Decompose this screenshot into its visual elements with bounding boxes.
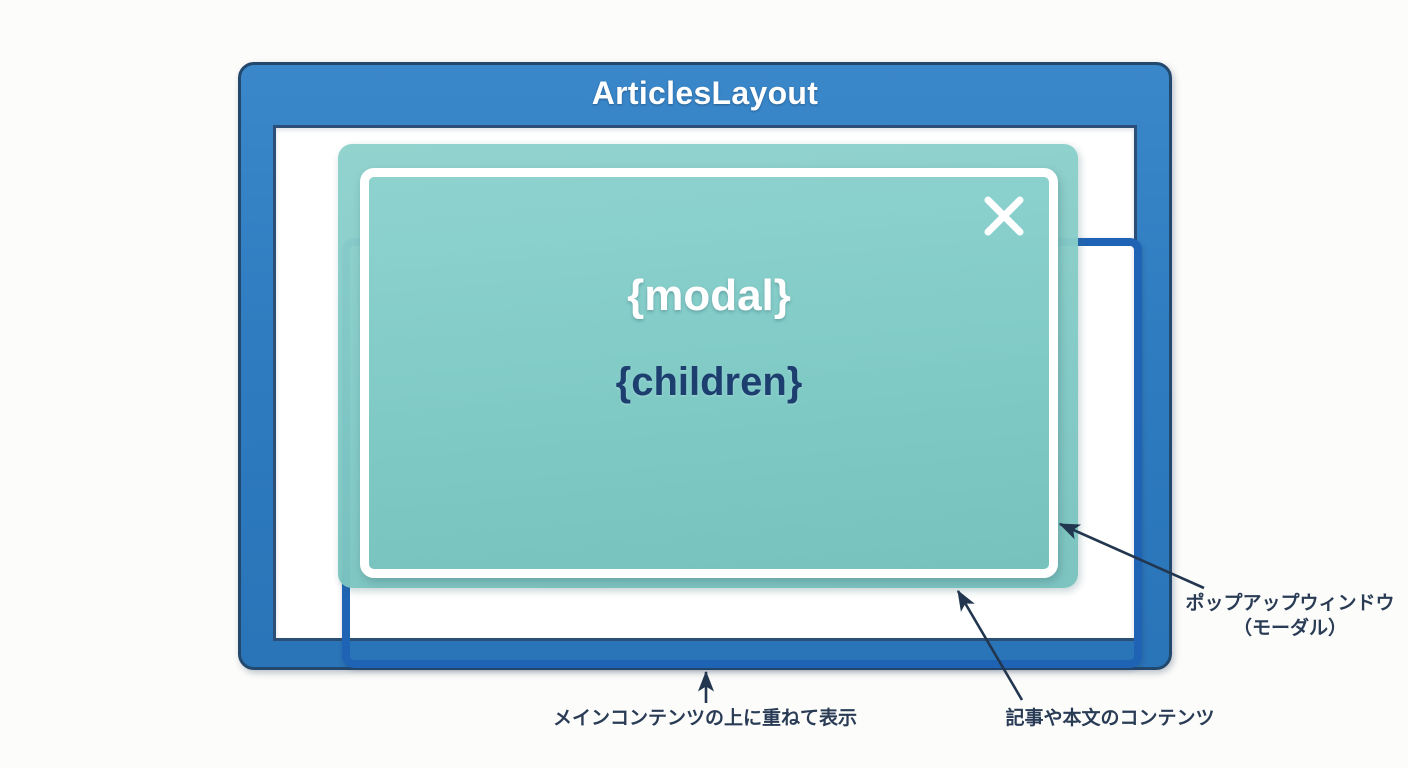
annotation-article-content: 記事や本文のコンテンツ xyxy=(960,707,1260,732)
modal-label-group: {modal} {children} xyxy=(369,273,1049,403)
children-placeholder-label: {children} xyxy=(369,361,1049,403)
annotation-popup-window: ポップアップウィンドウ （モーダル） xyxy=(1172,592,1408,641)
close-x-icon[interactable] xyxy=(977,189,1031,243)
annotation-overlay-display: メインコンテンツの上に重ねて表示 xyxy=(515,707,895,732)
modal-placeholder-label: {modal} xyxy=(369,273,1049,319)
modal-window: {modal} {children} xyxy=(360,168,1058,578)
articles-layout-title: ArticlesLayout xyxy=(241,75,1169,112)
diagram-canvas: ArticlesLayout {modal} {children} xyxy=(0,0,1408,768)
